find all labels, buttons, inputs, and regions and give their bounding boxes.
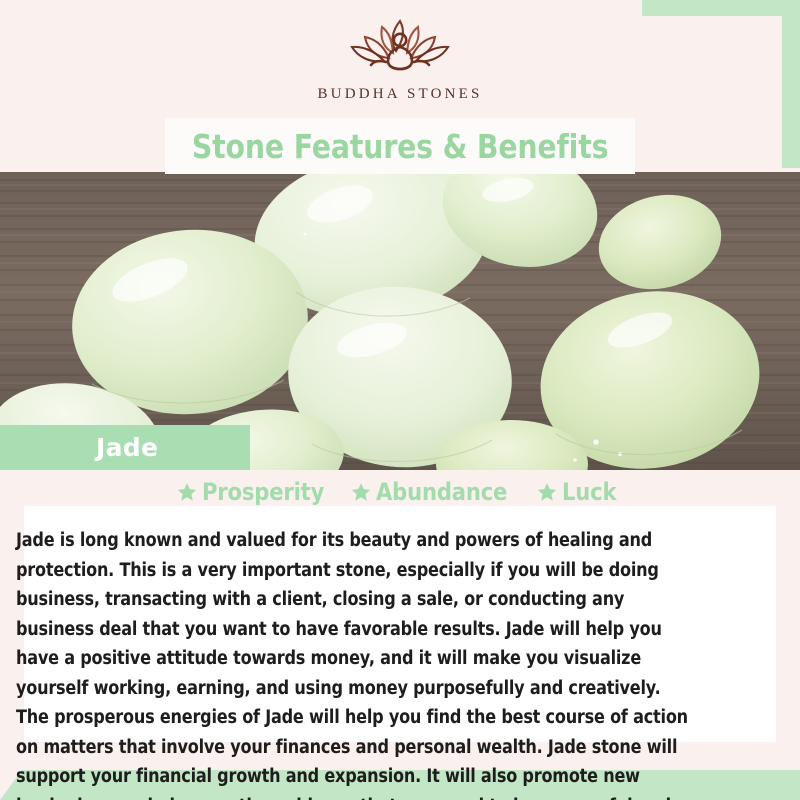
- star-icon: [537, 482, 557, 502]
- keyword-label: Prosperity: [202, 478, 324, 506]
- stone-name: Jade: [96, 433, 158, 462]
- star-icon: [177, 482, 197, 502]
- keyword-label: Abundance: [376, 478, 507, 506]
- keyword-label: Luck: [562, 478, 616, 506]
- keyword-abundance: Abundance: [351, 478, 525, 506]
- keyword-prosperity: Prosperity: [177, 478, 341, 506]
- keyword-luck: Luck: [537, 478, 624, 506]
- stone-name-band: Jade: [0, 425, 250, 470]
- brand-header: BUDDHA STONES: [0, 0, 800, 118]
- title-banner: Stone Features & Benefits: [165, 118, 635, 174]
- stone-benefits-poster: BUDDHA STONES Stone Features & Benefits: [0, 0, 800, 800]
- stone-description: Jade is long known and valued for its be…: [16, 526, 696, 800]
- description-panel: Prosperity Abundance Luck Jade: [0, 470, 800, 770]
- keyword-row: Prosperity Abundance Luck: [0, 478, 800, 506]
- lotus-meditation-icon: [340, 15, 460, 81]
- brand-wordmark: BUDDHA STONES: [317, 86, 482, 103]
- page-title: Stone Features & Benefits: [192, 127, 608, 166]
- star-icon: [351, 482, 371, 502]
